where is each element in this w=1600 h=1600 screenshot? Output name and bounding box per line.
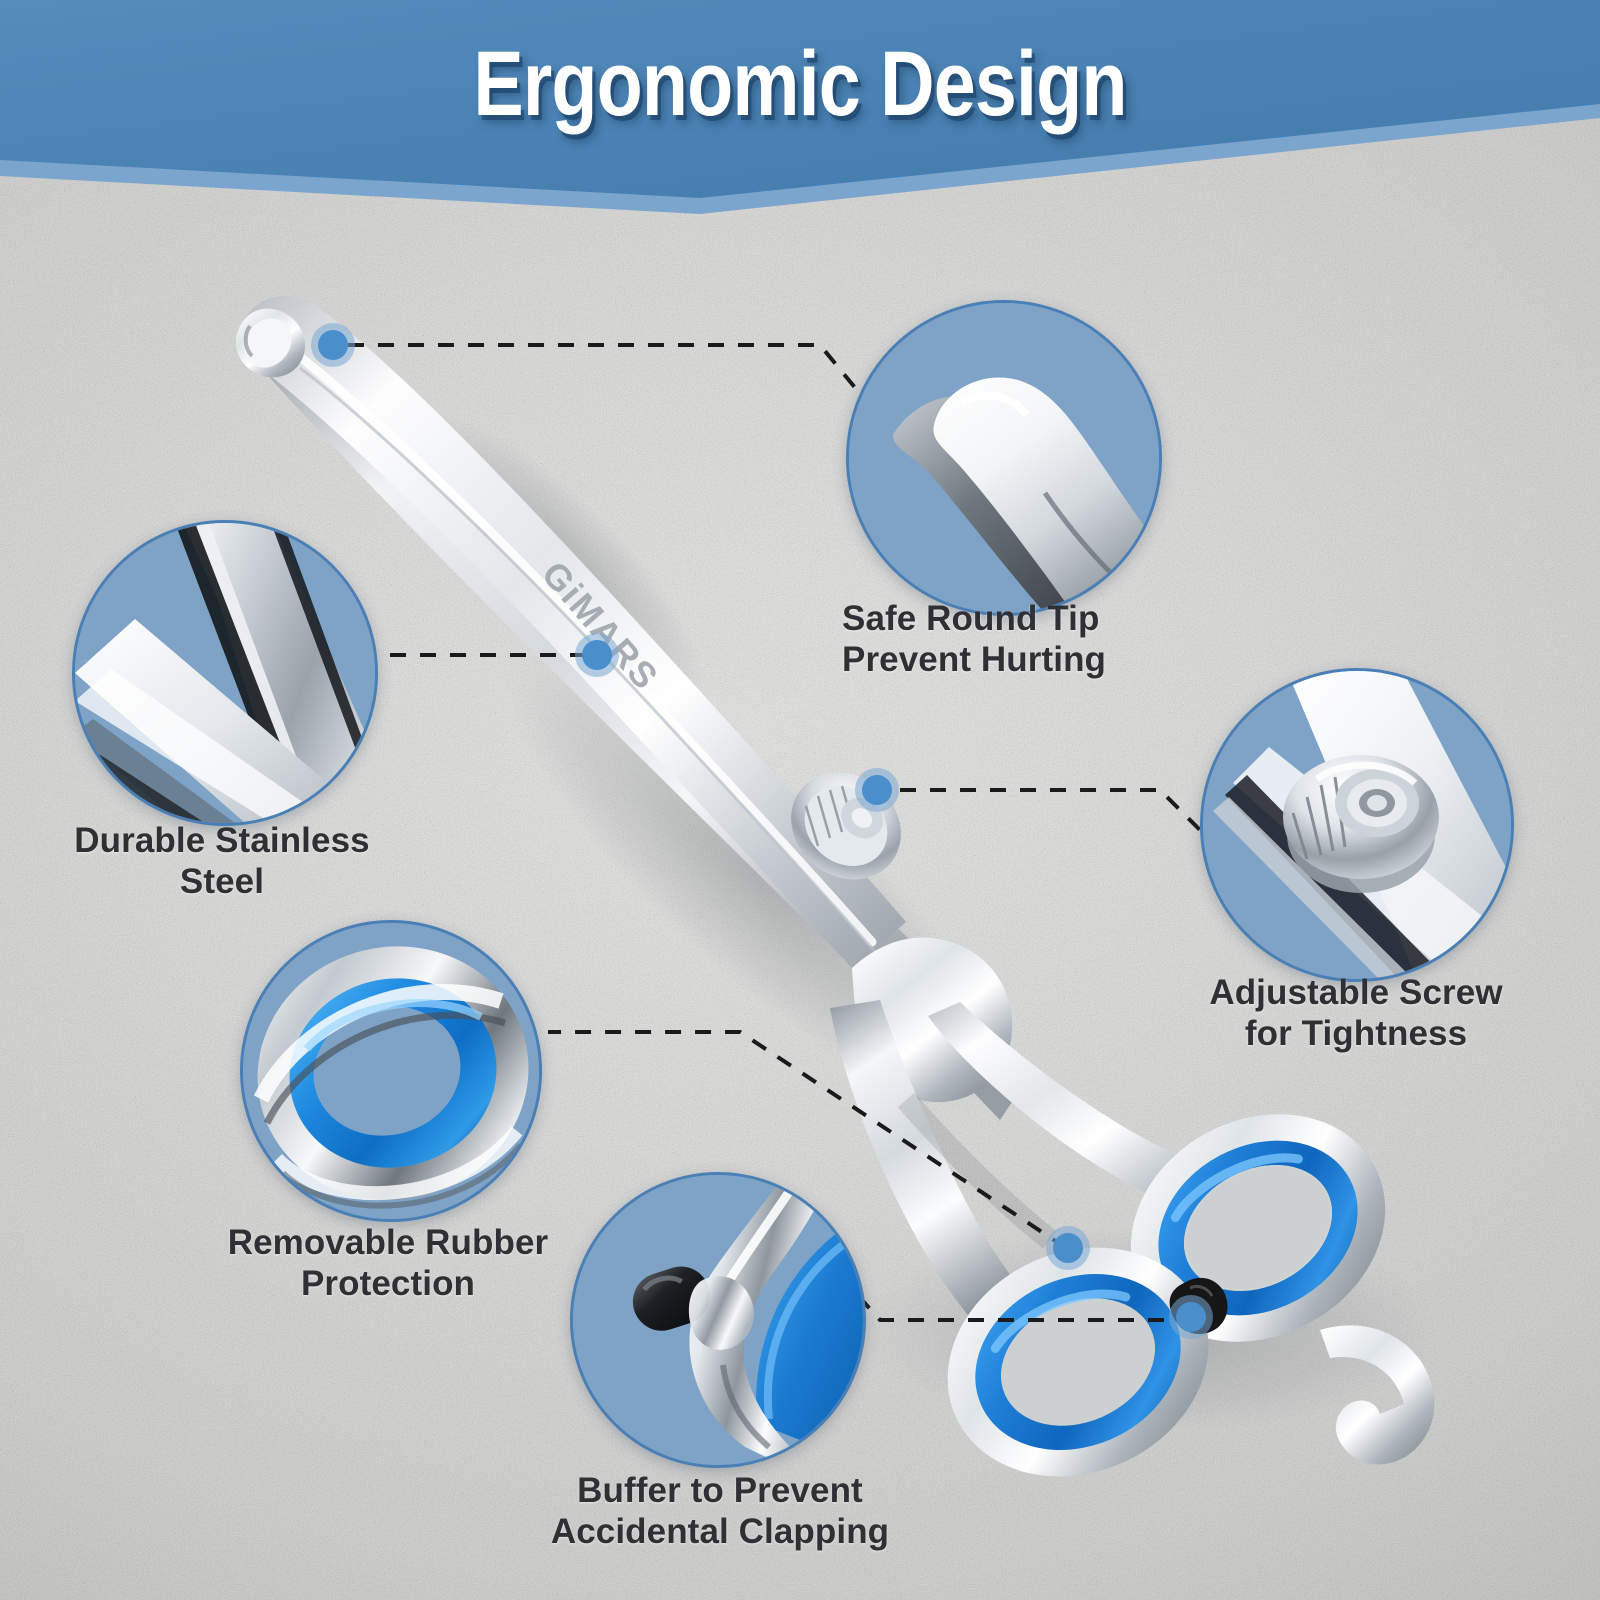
callout-label-safe-round-tip: Safe Round Tip Prevent Hurting	[842, 598, 1272, 681]
callout-label-line1: Buffer to Prevent	[490, 1470, 950, 1511]
callout-label-line2: Accidental Clapping	[490, 1511, 950, 1552]
marker-dot-adjustable-screw[interactable]	[862, 775, 892, 805]
callout-label-line1: Durable Stainless	[22, 820, 422, 861]
marker-dot-rubber-protection[interactable]	[1053, 1233, 1083, 1263]
callout-label-line2: Steel	[22, 861, 422, 902]
callout-image-buffer	[573, 1175, 863, 1465]
callout-circle-adjustable-screw	[1200, 668, 1514, 982]
callout-image-round-tip	[849, 303, 1159, 613]
callout-label-line2: Prevent Hurting	[842, 639, 1272, 680]
callout-label-line1: Safe Round Tip	[842, 598, 1272, 639]
callout-image-rubber-ring	[243, 923, 539, 1219]
callout-label-buffer: Buffer to Prevent Accidental Clapping	[490, 1470, 950, 1553]
callout-label-adjustable-screw: Adjustable Screw for Tightness	[1146, 972, 1566, 1055]
leader-buffer	[862, 1300, 1194, 1320]
callout-image-blade-edges	[75, 523, 375, 823]
callout-label-line1: Adjustable Screw	[1146, 972, 1566, 1013]
callout-label-line1: Removable Rubber	[178, 1222, 598, 1263]
callout-image-screw	[1203, 671, 1511, 979]
callout-label-line2: Protection	[178, 1263, 598, 1304]
callout-circle-durable-steel	[72, 520, 378, 826]
infographic-canvas: Ergonomic Design	[0, 0, 1600, 1600]
callout-circle-buffer	[570, 1172, 866, 1468]
callout-circle-rubber-protection	[240, 920, 542, 1222]
marker-dot-safe-round-tip[interactable]	[318, 330, 348, 360]
leader-adjustable-screw	[900, 790, 1200, 830]
marker-dot-durable-steel[interactable]	[582, 640, 612, 670]
callout-circle-safe-round-tip	[846, 300, 1162, 616]
leader-safe-round-tip	[348, 345, 880, 418]
callout-label-line2: for Tightness	[1146, 1013, 1566, 1054]
callout-label-durable-steel: Durable Stainless Steel	[22, 820, 422, 903]
callout-label-rubber-protection: Removable Rubber Protection	[178, 1222, 598, 1305]
marker-dot-buffer[interactable]	[1176, 1302, 1206, 1332]
